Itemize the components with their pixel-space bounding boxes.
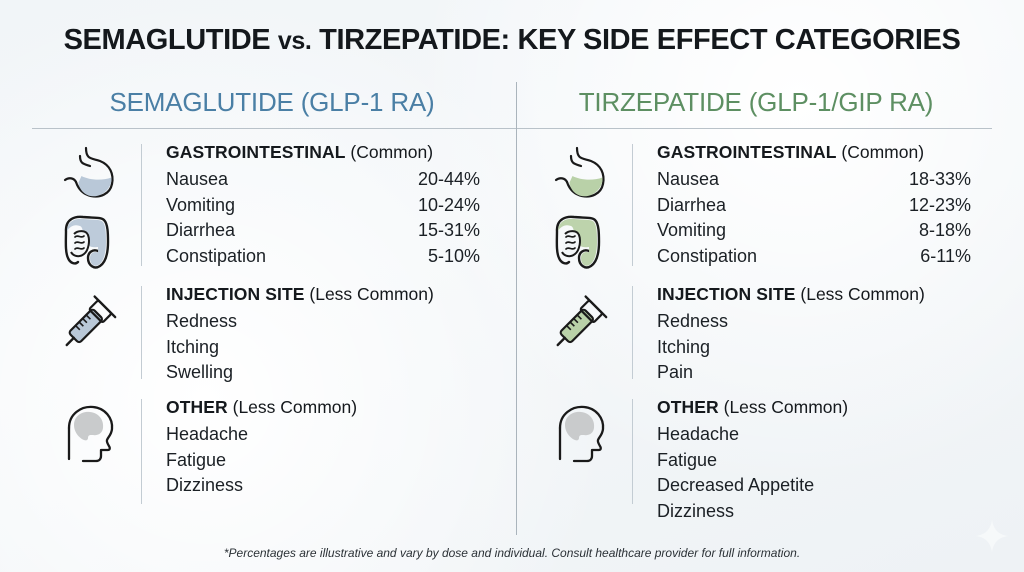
category-name: OTHER: [166, 397, 228, 417]
category-name: GASTROINTESTINAL: [166, 142, 346, 162]
gi-tract-icon: [527, 140, 632, 274]
effect-row: Vomiting 10-24%: [166, 193, 506, 219]
effect-label: Vomiting: [657, 218, 726, 244]
effect-row: Nausea 18-33%: [657, 167, 997, 193]
column-divider: [516, 82, 517, 535]
title-part-2: TIRZEPATIDE: KEY SIDE EFFECT CATEGORIES: [311, 24, 960, 56]
head-brain-icon: [527, 395, 632, 467]
header-divider: [32, 128, 992, 129]
effect-label: Vomiting: [166, 193, 235, 219]
effect-label: Decreased Appetite: [657, 475, 814, 495]
title-vs: vs.: [278, 27, 312, 55]
effect-label: Nausea: [657, 167, 719, 193]
category-heading: GASTROINTESTINAL (Common): [166, 142, 506, 163]
section-gastrointestinal-tirzepatide: GASTROINTESTINAL (Common) Nausea 18-33% …: [527, 140, 997, 282]
section-gastrointestinal-semaglutide: GASTROINTESTINAL (Common) Nausea 20-44% …: [36, 140, 506, 282]
effect-label: Redness: [657, 311, 728, 331]
category-frequency: (Less Common): [305, 284, 434, 304]
section-injection-site-tirzepatide: INJECTION SITE (Less Common) Redness Itc…: [527, 282, 997, 395]
effect-label: Fatigue: [657, 450, 717, 470]
effect-row: Fatigue: [657, 448, 997, 474]
effect-label: Constipation: [657, 244, 757, 270]
category-heading: GASTROINTESTINAL (Common): [657, 142, 997, 163]
effect-row: Diarrhea 15-31%: [166, 218, 506, 244]
effect-label: Swelling: [166, 362, 233, 382]
effect-row: Headache: [657, 422, 997, 448]
effect-row: Redness: [166, 309, 506, 335]
effect-label: Redness: [166, 311, 237, 331]
effect-value: 18-33%: [909, 167, 971, 193]
effect-row: Dizziness: [166, 473, 506, 499]
effect-label: Pain: [657, 362, 693, 382]
category-frequency: (Common): [346, 142, 434, 162]
category-frequency: (Less Common): [796, 284, 925, 304]
effect-row: Redness: [657, 309, 997, 335]
effect-row: Dizziness: [657, 499, 997, 525]
page-title: SEMAGLUTIDE vs. TIRZEPATIDE: KEY SIDE EF…: [0, 24, 1024, 57]
section-content: OTHER (Less Common) Headache Fatigue Dec…: [633, 395, 997, 524]
category-frequency: (Less Common): [719, 397, 848, 417]
category-frequency: (Common): [837, 142, 925, 162]
effect-row: Swelling: [166, 360, 506, 386]
section-other-tirzepatide: OTHER (Less Common) Headache Fatigue Dec…: [527, 395, 997, 520]
column-header-tirzepatide: TIRZEPATIDE (GLP-1/GIP RA): [516, 87, 996, 118]
effect-row: Pain: [657, 360, 997, 386]
effect-label: Dizziness: [657, 501, 734, 521]
infographic-canvas: SEMAGLUTIDE vs. TIRZEPATIDE: KEY SIDE EF…: [0, 0, 1024, 572]
effect-value: 20-44%: [418, 167, 480, 193]
category-heading: OTHER (Less Common): [166, 397, 506, 418]
effect-value: 12-23%: [909, 193, 971, 219]
category-name: OTHER: [657, 397, 719, 417]
effect-label: Constipation: [166, 244, 266, 270]
effect-value: 8-18%: [919, 218, 971, 244]
effect-label: Headache: [657, 424, 739, 444]
column-header-semaglutide: SEMAGLUTIDE (GLP-1 RA): [32, 87, 512, 118]
effect-row: Itching: [657, 335, 997, 361]
effect-label: Headache: [166, 424, 248, 444]
section-content: INJECTION SITE (Less Common) Redness Itc…: [633, 282, 997, 386]
effect-row: Constipation 6-11%: [657, 244, 997, 270]
effect-label: Fatigue: [166, 450, 226, 470]
effect-row: Constipation 5-10%: [166, 244, 506, 270]
category-frequency: (Less Common): [228, 397, 357, 417]
effect-row: Fatigue: [166, 448, 506, 474]
section-injection-site-semaglutide: INJECTION SITE (Less Common) Redness Itc…: [36, 282, 506, 395]
column-tirzepatide: GASTROINTESTINAL (Common) Nausea 18-33% …: [527, 140, 997, 520]
footnote-disclaimer: *Percentages are illustrative and vary b…: [0, 546, 1024, 560]
section-content: GASTROINTESTINAL (Common) Nausea 18-33% …: [633, 140, 997, 269]
effect-row: Nausea 20-44%: [166, 167, 506, 193]
effect-value: 6-11%: [920, 244, 971, 270]
effect-row: Decreased Appetite: [657, 473, 997, 499]
effect-value: 5-10%: [428, 244, 480, 270]
section-content: GASTROINTESTINAL (Common) Nausea 20-44% …: [142, 140, 506, 269]
effect-row: Diarrhea 12-23%: [657, 193, 997, 219]
category-heading: INJECTION SITE (Less Common): [657, 284, 997, 305]
effect-row: Itching: [166, 335, 506, 361]
category-name: INJECTION SITE: [166, 284, 305, 304]
title-part-1: SEMAGLUTIDE: [64, 24, 278, 56]
syringe-icon: [36, 282, 141, 356]
effect-value: 10-24%: [418, 193, 480, 219]
column-semaglutide: GASTROINTESTINAL (Common) Nausea 20-44% …: [36, 140, 506, 520]
effect-row: Headache: [166, 422, 506, 448]
section-other-semaglutide: OTHER (Less Common) Headache Fatigue Diz…: [36, 395, 506, 520]
category-heading: INJECTION SITE (Less Common): [166, 284, 506, 305]
category-heading: OTHER (Less Common): [657, 397, 997, 418]
effect-row: Vomiting 8-18%: [657, 218, 997, 244]
syringe-icon: [527, 282, 632, 356]
effect-label: Nausea: [166, 167, 228, 193]
head-brain-icon: [36, 395, 141, 467]
effect-label: Diarrhea: [166, 218, 235, 244]
category-name: GASTROINTESTINAL: [657, 142, 837, 162]
effect-label: Itching: [166, 337, 219, 357]
sparkle-icon: [974, 518, 1010, 554]
section-content: INJECTION SITE (Less Common) Redness Itc…: [142, 282, 506, 386]
gi-tract-icon: [36, 140, 141, 274]
effect-label: Dizziness: [166, 475, 243, 495]
category-name: INJECTION SITE: [657, 284, 796, 304]
effect-label: Diarrhea: [657, 193, 726, 219]
section-content: OTHER (Less Common) Headache Fatigue Diz…: [142, 395, 506, 499]
effect-value: 15-31%: [418, 218, 480, 244]
effect-label: Itching: [657, 337, 710, 357]
